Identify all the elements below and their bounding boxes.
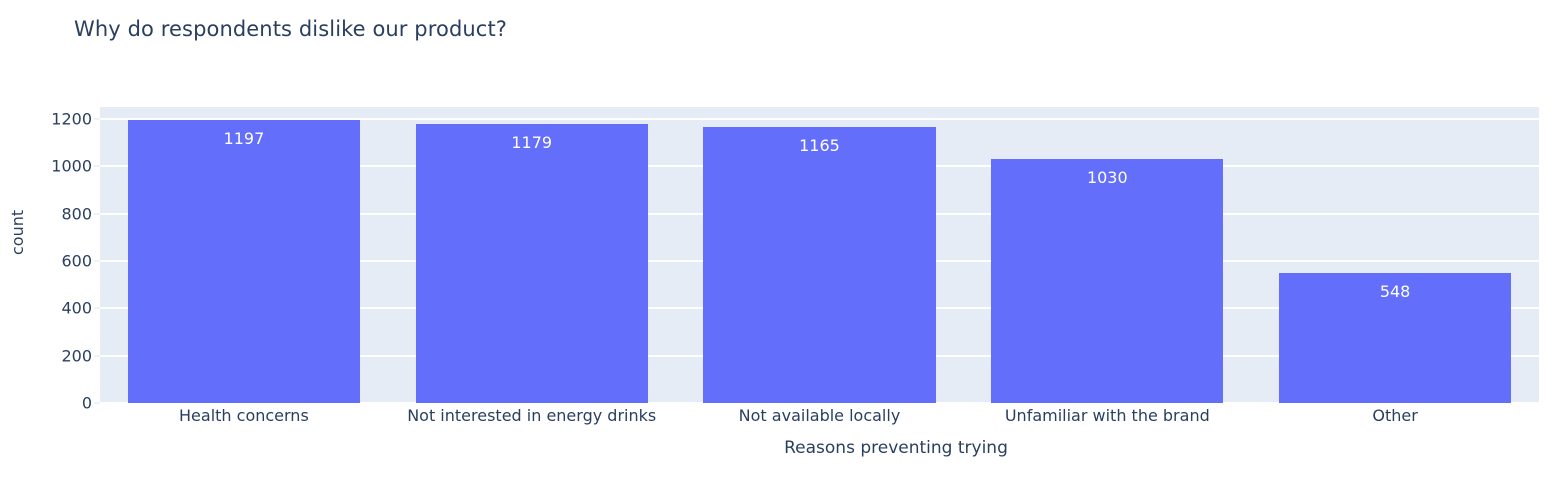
y-axis-tick-label: 600 bbox=[61, 252, 92, 271]
bar[interactable]: 1179 bbox=[416, 124, 648, 403]
y-axis-tick-label: 800 bbox=[61, 204, 92, 223]
bars-layer: 1197117911651030548 bbox=[100, 107, 1539, 403]
y-axis-title: count bbox=[8, 210, 27, 255]
chart-title: Why do respondents dislike our product? bbox=[74, 17, 507, 41]
x-axis-tick-label: Other bbox=[1251, 406, 1539, 425]
x-axis-tick-label: Not interested in energy drinks bbox=[388, 406, 676, 425]
x-axis-tick-label: Not available locally bbox=[676, 406, 964, 425]
bar-value-label: 548 bbox=[1279, 282, 1511, 301]
bar-value-label: 1030 bbox=[991, 168, 1223, 187]
y-axis-tick-label: 400 bbox=[61, 299, 92, 318]
y-axis-tick-label: 0 bbox=[82, 394, 92, 413]
bar-value-label: 1197 bbox=[128, 129, 360, 148]
x-axis-tick-label: Health concerns bbox=[100, 406, 388, 425]
bar[interactable]: 1165 bbox=[703, 127, 935, 403]
bar-value-label: 1165 bbox=[703, 136, 935, 155]
bar[interactable]: 1197 bbox=[128, 120, 360, 403]
x-axis-tick-label: Unfamiliar with the brand bbox=[963, 406, 1251, 425]
bar[interactable]: 548 bbox=[1279, 273, 1511, 403]
plot-area: 1197117911651030548 bbox=[100, 107, 1539, 403]
bar-chart: Why do respondents dislike our product? … bbox=[0, 0, 1554, 478]
bar-value-label: 1179 bbox=[416, 133, 648, 152]
y-axis-tick-label: 1200 bbox=[51, 110, 92, 129]
x-axis-title: Reasons preventing trying bbox=[0, 438, 1554, 458]
bar[interactable]: 1030 bbox=[991, 159, 1223, 403]
x-axis-title-text: Reasons preventing trying bbox=[784, 438, 1008, 458]
y-axis-tick-label: 200 bbox=[61, 346, 92, 365]
y-axis-tick-label: 1000 bbox=[51, 157, 92, 176]
